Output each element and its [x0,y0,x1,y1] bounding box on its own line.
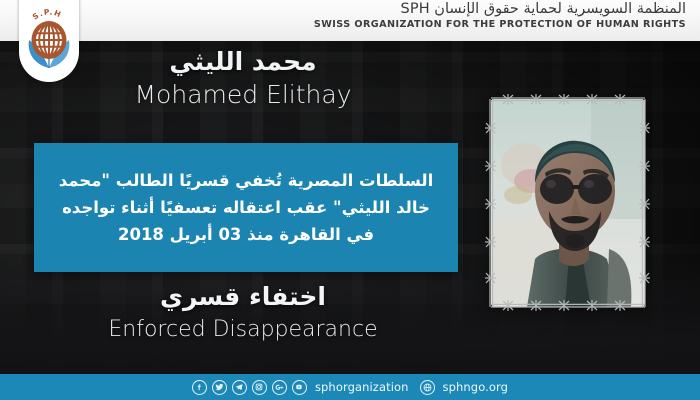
sph-globe-logo-icon: S.P.H [23,2,75,76]
globe-website-icon [420,380,435,395]
statement-box: السلطات المصرية تُخفي قسريًا الطالب "محم… [34,143,458,272]
organization-name-english: SWISS ORGANIZATION FOR THE PROTECTION OF… [314,20,686,30]
classification-label-english: Enforced Disappearance [28,317,458,342]
facebook-icon[interactable] [192,380,207,395]
organization-name-arabic: المنظمة السويسرية لحماية حقوق الإنسان SP… [314,2,686,17]
telegram-icon[interactable] [232,380,247,395]
svg-text:S.P.H: S.P.H [31,7,63,21]
victim-photo-frame [484,92,652,314]
classification-label-arabic: اختفاء قسري [28,282,458,311]
instagram-icon[interactable] [252,380,267,395]
organization-title-block: المنظمة السويسرية لحماية حقوق الإنسان SP… [314,2,686,30]
victim-name-block: محمد الليثي Mohamed Elithay [28,48,458,110]
victim-name-english: Mohamed Elithay [28,80,458,110]
victim-portrait-illustration [491,99,645,307]
twitter-icon[interactable] [212,380,227,395]
social-handle-label: sphorganization [315,380,409,394]
victim-name-arabic: محمد الليثي [28,48,458,77]
classification-block: اختفاء قسري Enforced Disappearance [28,282,458,342]
website-label: sphngo.org [443,380,509,394]
google-plus-icon[interactable] [272,380,287,395]
statement-text-arabic: السلطات المصرية تُخفي قسريًا الطالب "محم… [34,167,458,249]
youtube-icon[interactable] [292,380,307,395]
footer-social-bar: sphorganization sphngo.org [0,374,700,400]
poster-canvas: المنظمة السويسرية لحماية حقوق الإنسان SP… [0,0,700,400]
victim-photo [491,99,645,307]
sph-logo-plate: S.P.H [19,0,79,82]
header-band: المنظمة السويسرية لحماية حقوق الإنسان SP… [0,0,700,41]
